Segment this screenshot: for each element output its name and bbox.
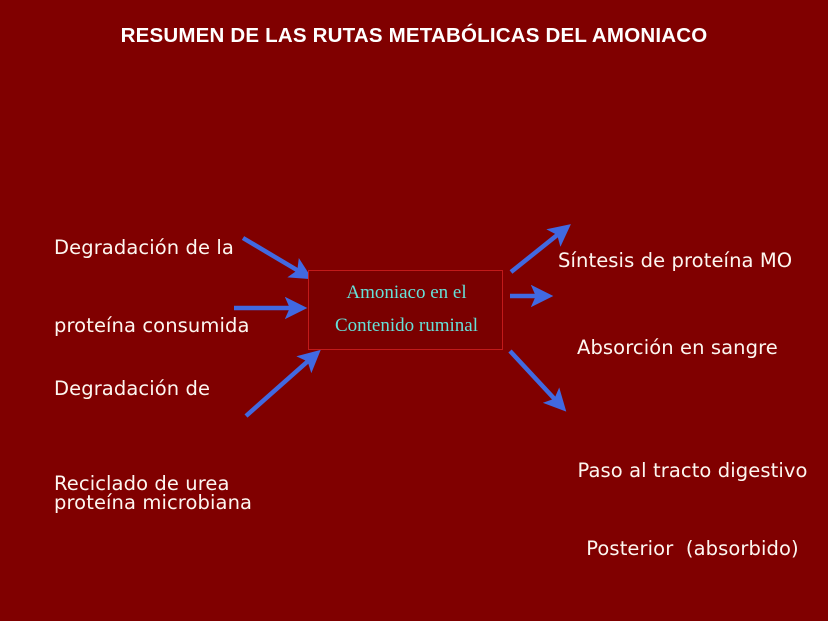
label-reciclado-de-urea: Reciclado de urea <box>54 419 230 549</box>
slide-canvas: RESUMEN DE LAS RUTAS METABÓLICAS DEL AMO… <box>0 0 828 621</box>
label-line-1: Degradación de <box>54 370 252 408</box>
arrow-urea-to-box <box>246 354 316 416</box>
label-line-1: Degradación de la <box>54 235 250 261</box>
label-paso-tracto-digestivo: Paso al tracto digestivo Posterior (abso… <box>565 406 820 613</box>
label-line-2: Posterior (absorbido) <box>565 536 820 562</box>
label-line-1: Paso al tracto digestivo <box>565 458 820 484</box>
amoniaco-box-line-1: Amoniaco en el <box>309 282 504 304</box>
label-line-1: Reciclado de urea <box>54 471 230 497</box>
label-line-1: Absorción en sangre <box>577 335 778 361</box>
label-absorcion-en-sangre: Absorción en sangre <box>577 283 778 413</box>
page-title: RESUMEN DE LAS RUTAS METABÓLICAS DEL AMO… <box>0 24 828 48</box>
amoniaco-box-line-2: Contenido ruminal <box>309 315 504 337</box>
arrow-consumida-to-box <box>243 238 307 276</box>
label-line-1: Síntesis de proteína MO <box>558 248 792 274</box>
arrow-box-to-tracto <box>510 351 562 407</box>
amoniaco-box: Amoniaco en el Contenido ruminal <box>308 270 503 350</box>
